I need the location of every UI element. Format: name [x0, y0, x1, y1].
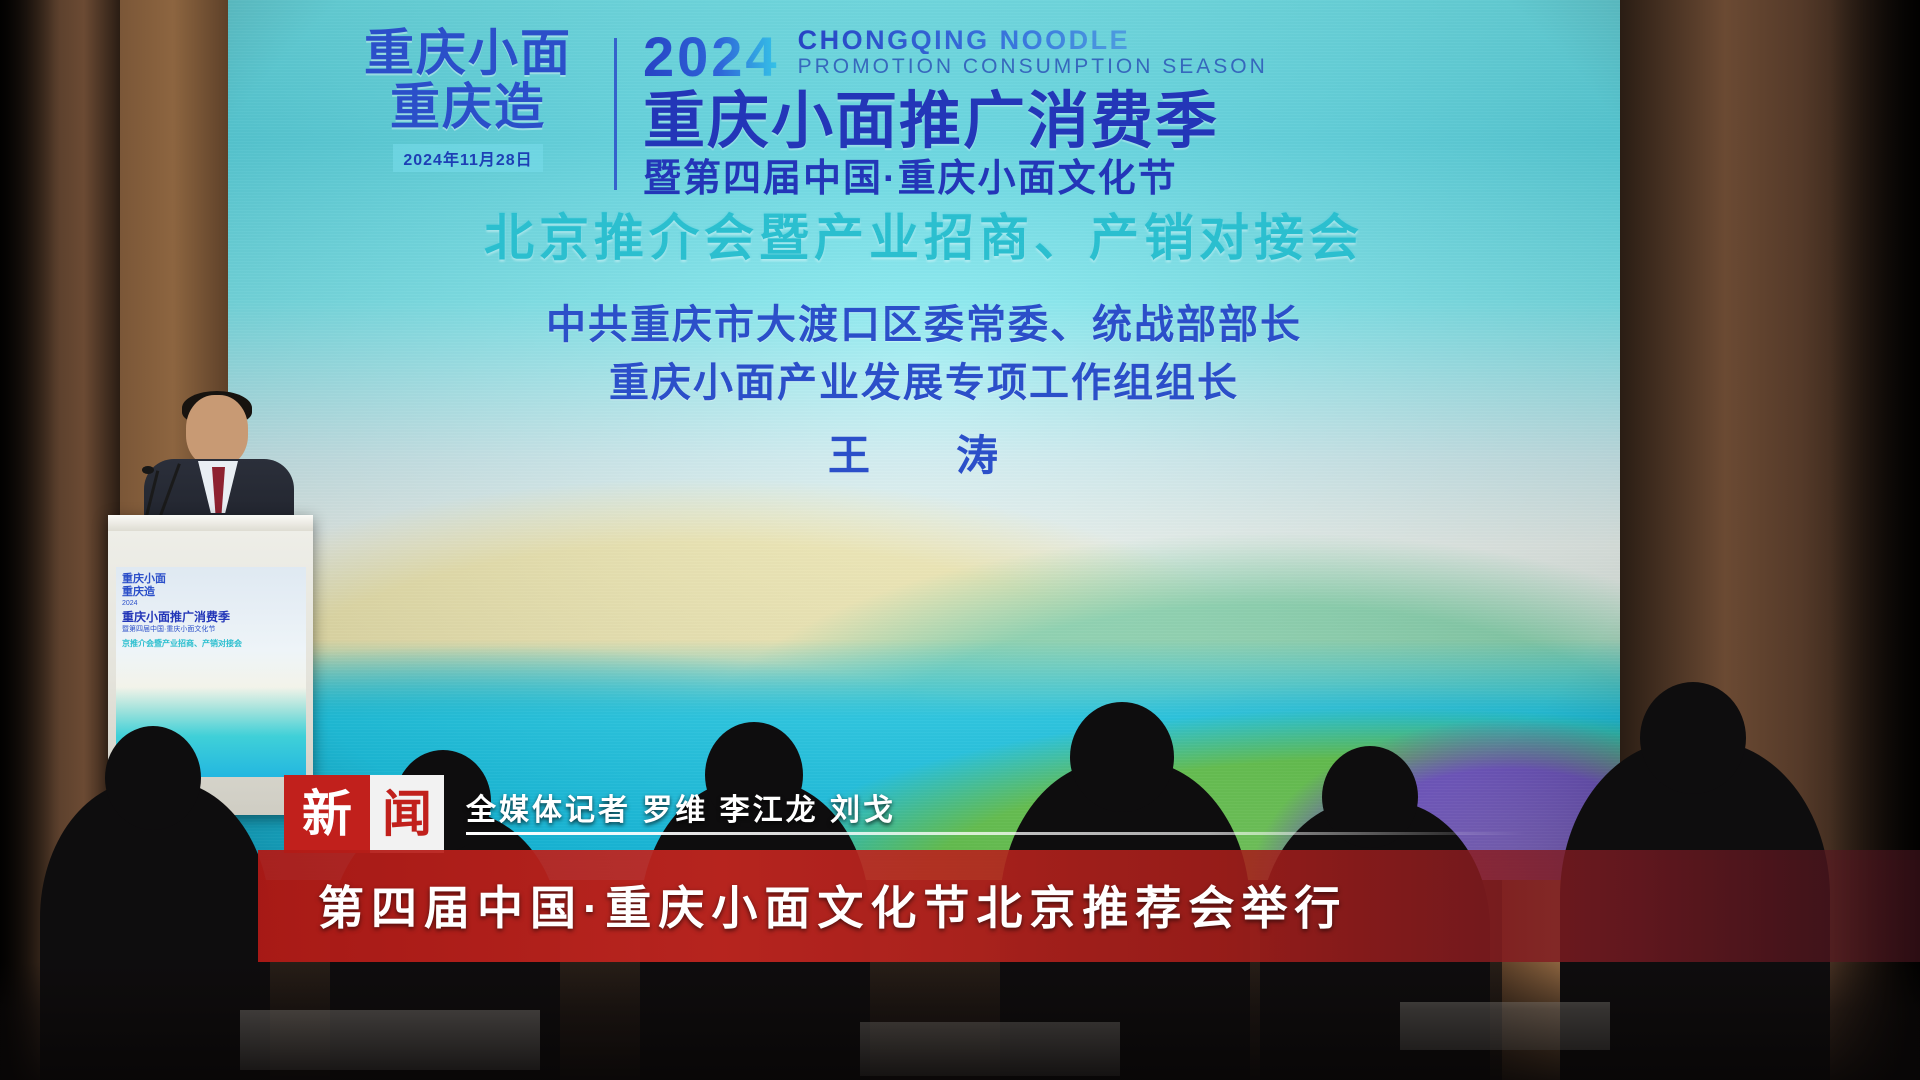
english-line-2: PROMOTION CONSUMPTION SEASON	[798, 54, 1268, 80]
podium-top-edge	[108, 515, 313, 531]
podium-year: 2024	[116, 598, 306, 608]
credits-rule	[466, 832, 1526, 835]
english-block: CHONGQING NOODLE PROMOTION CONSUMPTION S…	[798, 26, 1268, 85]
speaker-name: 王 涛	[228, 422, 1620, 483]
reporter-credits: 全媒体记者 罗维 李江龙 刘戈	[466, 785, 896, 829]
speaker-block: 中共重庆市大渡口区委常委、统战部部长 重庆小面产业发展专项工作组组长 王 涛	[228, 296, 1620, 483]
news-channel-logo: 新 闻	[284, 775, 444, 853]
year-label: 2024	[643, 29, 780, 85]
logo-line-1: 重庆小面	[348, 26, 588, 80]
banner-main-title: 重庆小面推广消费季	[643, 89, 1620, 154]
podium-logo-line-1: 重庆小面	[122, 573, 166, 585]
news-headline: 第四届中国·重庆小面文化节北京推荐会举行	[318, 872, 1347, 938]
title-column: 2024 CHONGQING NOODLE PROMOTION CONSUMPT…	[643, 26, 1620, 201]
podium-logo-line-2: 重庆造	[122, 586, 155, 598]
screenshot-stage: 重庆小面 重庆造 2024年11月28日 2024 CHONGQING NOOD…	[0, 0, 1920, 1080]
logo-red-block: 新	[284, 775, 370, 853]
english-line-1: CHONGQING NOODLE	[798, 26, 1268, 54]
podium-sub: 暨第四届中国·重庆小面文化节	[116, 624, 306, 634]
eyebrow-row: 2024 CHONGQING NOODLE PROMOTION CONSUMPT…	[643, 26, 1620, 85]
logo-line-2: 重庆造	[348, 80, 588, 134]
event-date: 2024年11月28日	[393, 144, 542, 172]
vertical-divider	[614, 38, 617, 190]
speaker-title-2: 重庆小面产业发展专项工作组组长	[228, 354, 1620, 412]
banner-sub-title: 暨第四届中国·重庆小面文化节	[643, 158, 1620, 202]
logo-char-wen: 闻	[382, 789, 432, 839]
logo-white-block: 闻	[370, 775, 444, 853]
led-stage-screen: 重庆小面 重庆造 2024年11月28日 2024 CHONGQING NOOD…	[228, 0, 1620, 880]
audience-head	[1640, 682, 1746, 794]
podium-teal: 京推介会暨产业招商、产销对接会	[116, 635, 306, 649]
banner-teal-line: 北京推介会暨产业招商、产销对接会	[228, 211, 1620, 266]
microphone-head	[142, 466, 154, 474]
logo-char-xin: 新	[302, 789, 352, 839]
audience-head	[1070, 702, 1174, 812]
event-logo: 重庆小面 重庆造 2024年11月28日	[228, 26, 588, 172]
podium-title: 重庆小面推广消费季	[116, 609, 306, 625]
banner-header: 重庆小面 重庆造 2024年11月28日 2024 CHONGQING NOOD…	[228, 0, 1620, 483]
speaker-title-1: 中共重庆市大渡口区委常委、统战部部长	[228, 296, 1620, 354]
person-head	[186, 395, 248, 467]
bottom-shadow	[0, 962, 1920, 1080]
audience-head	[105, 726, 201, 830]
